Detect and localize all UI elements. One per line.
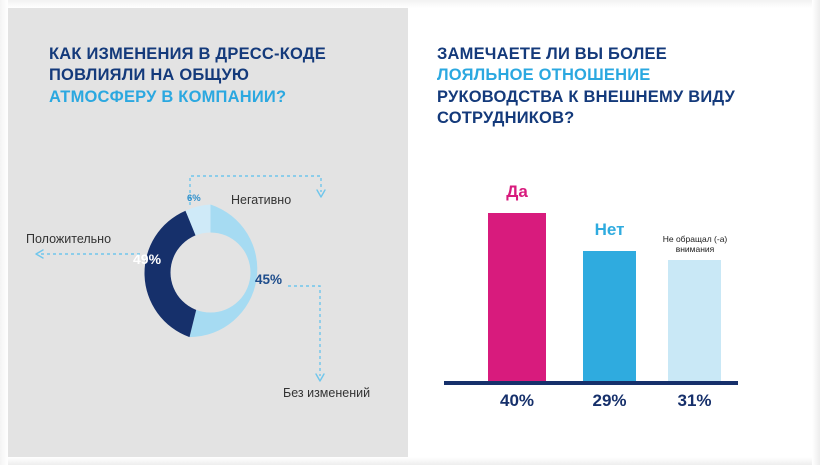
bar-chart-baseline xyxy=(444,381,738,385)
right-panel-heading: ЗАМЕЧАЕТЕ ЛИ ВЫ БОЛЕЕ ЛОЯЛЬНОЕ ОТНОШЕНИЕ… xyxy=(437,44,787,130)
bar-chart: Да Нет Не обращал (-а) внимания 40% 29% … xyxy=(440,185,740,415)
bar-value-no: 29% xyxy=(578,391,641,411)
donut-label-positive: Положительно xyxy=(26,232,111,246)
right-heading-line-3: РУКОВОДСТВА К ВНЕШНЕМУ ВИДУ xyxy=(437,87,787,108)
bar-value-unnoticed: 31% xyxy=(663,391,726,411)
bar-no xyxy=(583,251,636,381)
right-heading-line-2: ЛОЯЛЬНОЕ ОТНОШЕНИЕ xyxy=(437,65,787,86)
donut-label-negative: Негативно xyxy=(231,193,291,207)
page-edge-right xyxy=(812,0,820,465)
bar-label-unnoticed-line-2: внимания xyxy=(676,244,715,254)
right-heading-line-4: СОТРУДНИКОВ? xyxy=(437,108,787,129)
bar-label-no: Нет xyxy=(583,220,636,240)
bar-unnoticed xyxy=(668,260,721,381)
bar-label-unnoticed: Не обращал (-а) внимания xyxy=(644,234,746,255)
left-panel-heading: КАК ИЗМЕНЕНИЯ В ДРЕСС-КОДЕ ПОВЛИЯЛИ НА О… xyxy=(49,44,379,108)
page-edge-top xyxy=(0,0,820,8)
bar-label-unnoticed-line-1: Не обращал (-а) xyxy=(663,234,728,244)
infographic-canvas: КАК ИЗМЕНЕНИЯ В ДРЕСС-КОДЕ ПОВЛИЯЛИ НА О… xyxy=(0,0,820,465)
left-heading-line-2: ПОВЛИЯЛИ НА ОБЩУЮ xyxy=(49,65,379,86)
bar-value-yes: 40% xyxy=(484,391,550,411)
donut-value-nochange: 45% xyxy=(255,272,282,287)
page-edge-left xyxy=(0,0,8,465)
bar-label-yes: Да xyxy=(488,182,546,202)
donut-label-nochange: Без изменений xyxy=(283,386,370,400)
right-heading-line-1: ЗАМЕЧАЕТЕ ЛИ ВЫ БОЛЕЕ xyxy=(437,44,787,65)
page-edge-bottom xyxy=(0,457,820,465)
left-heading-line-3: АТМОСФЕРУ В КОМПАНИИ? xyxy=(49,87,379,108)
donut-hole xyxy=(171,233,251,313)
donut-value-positive: 49% xyxy=(133,251,161,267)
donut-value-negative: 6% xyxy=(187,193,201,204)
bar-yes xyxy=(488,213,546,381)
left-heading-line-1: КАК ИЗМЕНЕНИЯ В ДРЕСС-КОДЕ xyxy=(49,44,379,65)
